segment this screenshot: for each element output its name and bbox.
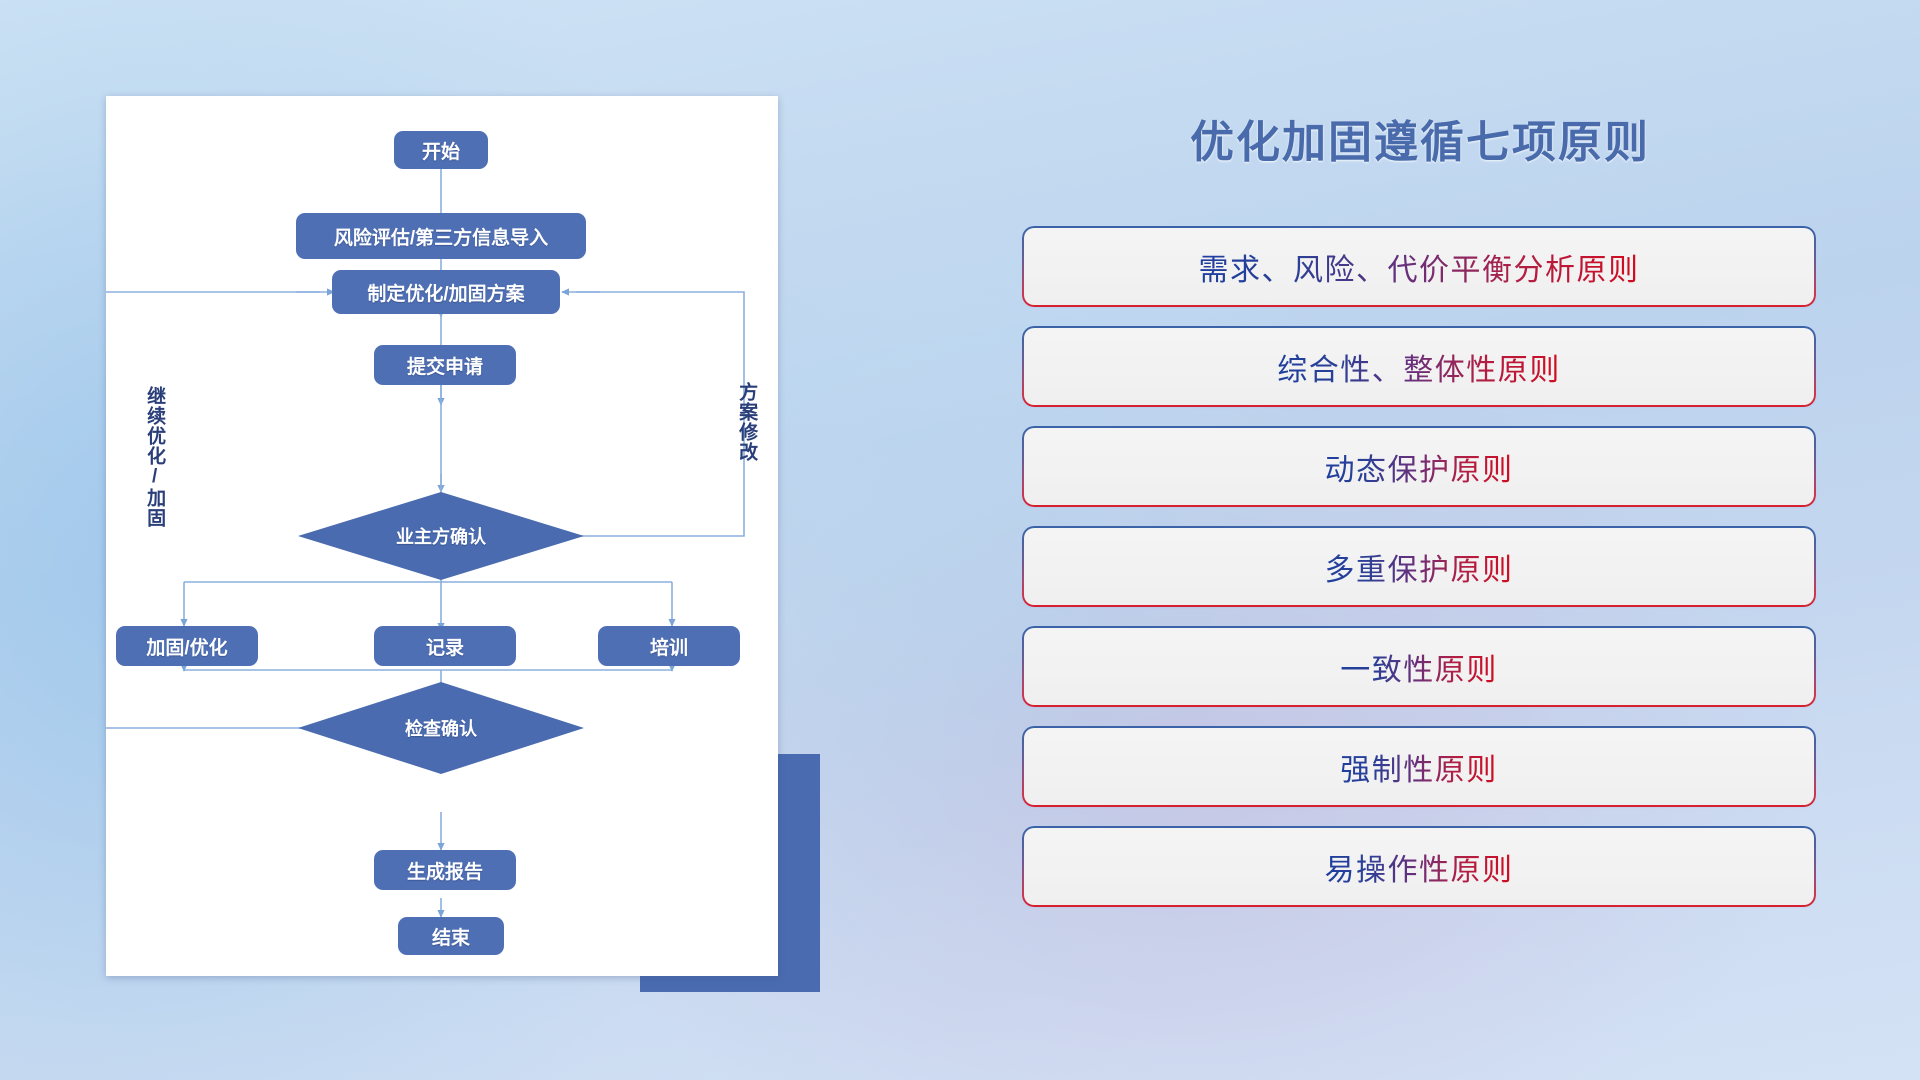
node-training[interactable] [598, 626, 740, 666]
principle-card[interactable]: 动态保护原则 [1024, 428, 1814, 505]
principle-card-label: 需求、风险、代价平衡分析原则 [1199, 245, 1640, 289]
panel-title: 优化加固遵循七项原则 [1010, 106, 1830, 170]
principle-card[interactable]: 一致性原则 [1024, 628, 1814, 705]
principle-card[interactable]: 易操作性原则 [1024, 828, 1814, 905]
principle-card[interactable]: 综合性、整体性原则 [1024, 328, 1814, 405]
node-start[interactable] [394, 131, 488, 169]
node-check-confirm[interactable] [298, 682, 584, 774]
principle-card[interactable]: 多重保护原则 [1024, 528, 1814, 605]
principle-card-label: 综合性、整体性原则 [1277, 345, 1561, 389]
node-record[interactable] [374, 626, 516, 666]
principle-card[interactable]: 需求、风险、代价平衡分析原则 [1024, 228, 1814, 305]
flow-nodes [116, 131, 740, 955]
node-risk-assessment[interactable] [296, 213, 586, 259]
node-reinforce[interactable] [116, 626, 258, 666]
principles-card-list: 需求、风险、代价平衡分析原则 综合性、整体性原则 动态保护原则 多重保护原则 一… [1024, 228, 1814, 928]
principle-card-label: 强制性原则 [1340, 745, 1498, 789]
flowchart-canvas [106, 96, 778, 976]
node-owner-confirm[interactable] [298, 492, 584, 580]
principle-card-label: 动态保护原则 [1325, 445, 1514, 489]
node-end[interactable] [398, 917, 504, 955]
node-plan[interactable] [332, 270, 560, 314]
loop-label-plan-revision: 方案修改 [736, 382, 756, 462]
principle-card-label: 一致性原则 [1340, 645, 1498, 689]
slide-canvas: 开始 风险评估/第三方信息导入 制定优化/加固方案 提交申请 业主方确认 加固/… [0, 0, 1920, 1080]
principle-card-label: 多重保护原则 [1325, 545, 1514, 589]
flow-branch-arrows [184, 292, 672, 917]
principle-card-label: 易操作性原则 [1325, 845, 1514, 889]
principle-card[interactable]: 强制性原则 [1024, 728, 1814, 805]
node-submit[interactable] [374, 345, 516, 385]
flowchart-card: 开始 风险评估/第三方信息导入 制定优化/加固方案 提交申请 业主方确认 加固/… [106, 96, 778, 976]
principles-panel: 优化加固遵循七项原则 需求、风险、代价平衡分析原则 综合性、整体性原则 动态保护… [1010, 0, 1890, 1080]
node-report[interactable] [374, 850, 516, 890]
loop-label-continue-optimize: 继续优化/加固 [144, 386, 164, 528]
